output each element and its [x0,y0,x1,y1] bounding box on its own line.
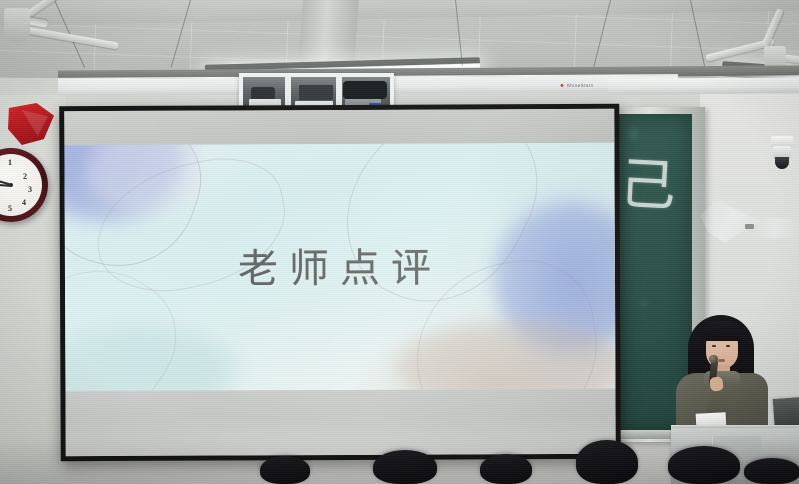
projection-screen-surface: 老师点评 [64,109,616,456]
speaker-eye-right [726,345,730,347]
audience-head [668,446,740,484]
screen-brand-label: ❖ShineStars [560,83,594,89]
screen-blank-top [64,109,614,145]
brand-name-text: ShineStars [567,83,594,88]
audience-head [260,456,310,484]
slide-title: 老师点评 [65,235,615,295]
clock-numeral-2: 2 [23,172,27,181]
chalk-smudge [641,300,647,306]
chalk-smudge [630,128,637,139]
clock-numeral-4: 4 [22,198,26,207]
clock-numeral-3: 3 [28,185,32,194]
classroom-photo: 12 1 2 3 4 5 6 己 ❖ShineStars [0,0,799,484]
audience-head [576,440,638,484]
audience-head [373,450,437,484]
screen-blank-bottom [65,389,615,456]
speaker-fringe [702,321,742,341]
wall-hook [745,224,754,229]
projector-top-unit [299,85,333,100]
speaker-eye-left [712,345,716,347]
plastic-tape-strip [752,218,798,238]
fan-hub [4,8,30,42]
surveillance-camera-icon [770,136,794,170]
projector-cable-bundle [343,81,387,99]
clock-numeral-5: 5 [8,204,12,213]
projection-screen-casing-extension [608,77,799,94]
brand-logo-mark: ❖ [560,83,565,88]
camera-dome [775,157,789,169]
projection-screen: 老师点评 [59,104,621,461]
audience-head [744,458,799,484]
speaker-hand [709,376,724,392]
clock-brand-text [2,166,3,170]
microphone-head [709,355,718,363]
clock-numeral-1: 1 [8,158,12,167]
chalkboard-written-character: 己 [618,139,678,223]
speaker-mouth [718,359,725,362]
audience-head [480,454,532,484]
clock-center-pin [9,183,13,187]
projected-slide: 老师点评 [64,143,615,391]
